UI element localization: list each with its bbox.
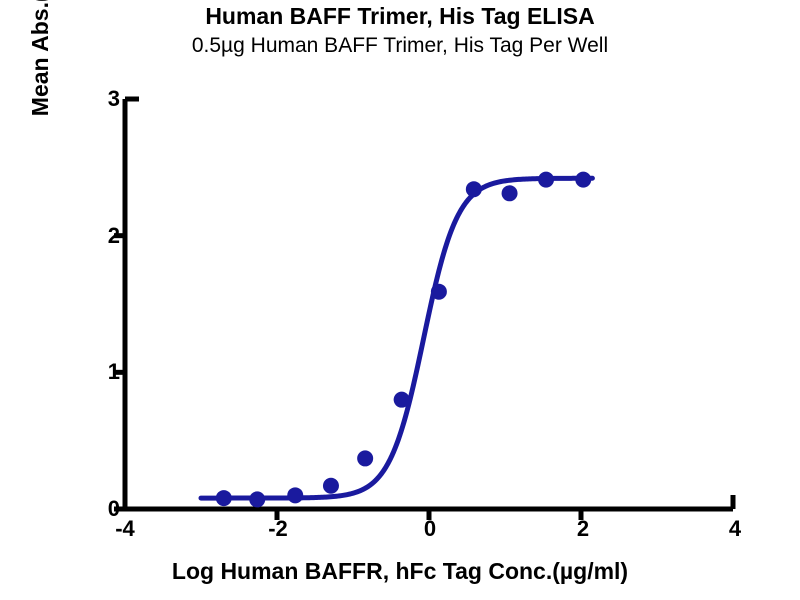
data-point [538,172,554,188]
plot-area [0,0,800,600]
data-point [216,490,232,506]
fit-curve [201,178,592,498]
axis-ticks [114,99,733,520]
data-point [394,392,410,408]
data-point [502,185,518,201]
data-point-group [216,172,591,508]
data-point [431,284,447,300]
data-point [466,181,482,197]
chart-figure: Human BAFF Trimer, His Tag ELISA 0.5µg H… [0,0,800,600]
data-point [323,478,339,494]
data-point [357,450,373,466]
data-point [287,487,303,503]
data-point [575,172,591,188]
data-point [249,491,265,507]
